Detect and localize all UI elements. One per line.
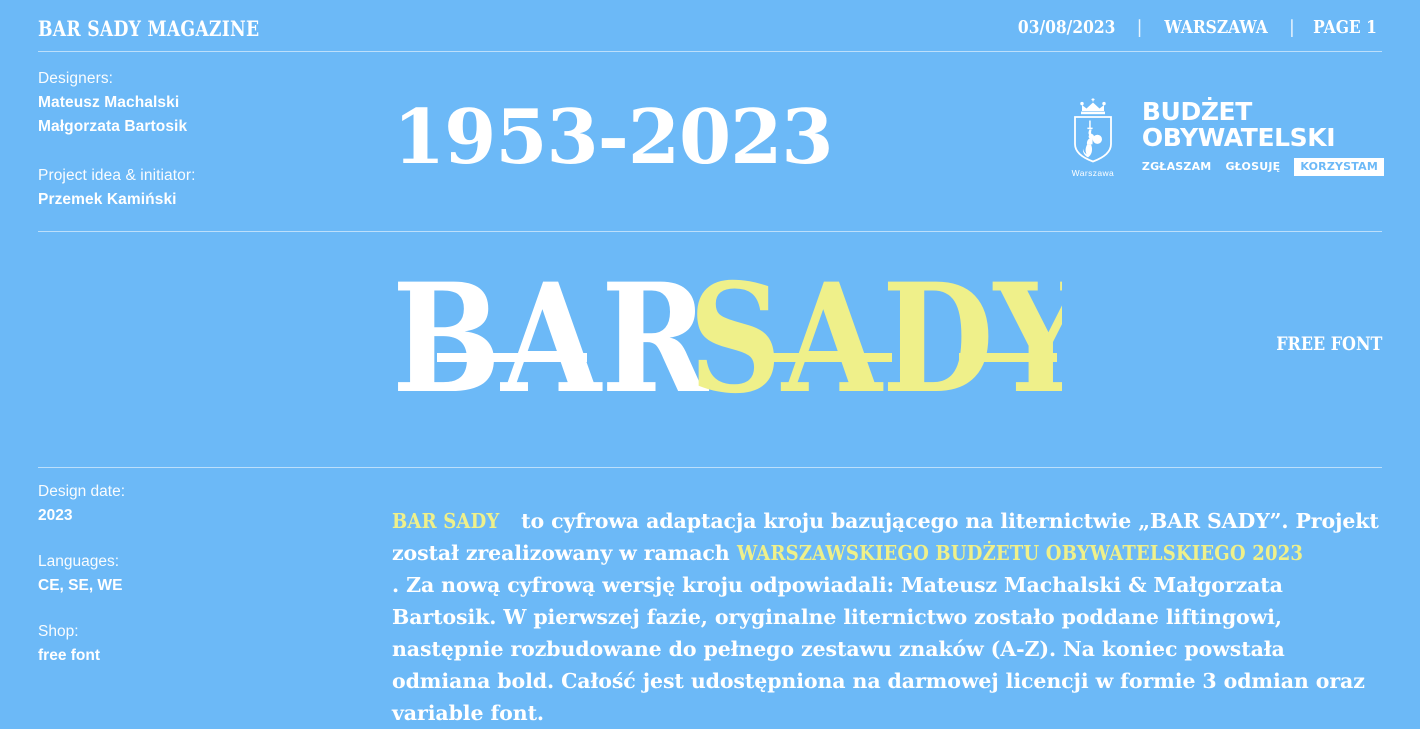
spec-design-date: Design date: 2023 (38, 480, 338, 528)
budget-line-1: BUDŻET (1142, 99, 1384, 125)
masthead-city: WARSZAWA (1164, 17, 1267, 38)
crossbar-a (437, 353, 587, 362)
masthead-separator-1: | (1124, 17, 1156, 38)
specs-block: Design date: 2023 Languages: CE, SE, WE … (38, 480, 338, 668)
divider-top (38, 51, 1382, 52)
description-text-2: . Za nową cyfrową wersję kroju odpowiada… (392, 573, 1365, 725)
masthead-title: BAR SADY MAGAZINE (38, 16, 259, 41)
mermaid-figure (1083, 121, 1102, 158)
shop-label: Shop: (38, 620, 338, 644)
warsaw-coat-of-arms-icon (1064, 96, 1122, 166)
credits-block: Designers: Mateusz Machalski Małgorzata … (38, 67, 338, 212)
budget-wordmark: BUDŻET OBYWATELSKI ZGŁASZAM GŁOSUJĘ KORZ… (1142, 99, 1384, 176)
wordmark-bar: BAR (392, 266, 710, 416)
masthead-date: 03/08/2023 (1018, 17, 1115, 38)
description-highlight-1: BAR SADY (392, 505, 499, 537)
budget-tagline: ZGŁASZAM GŁOSUJĘ KORZYSTAM (1142, 158, 1384, 176)
spec-languages: Languages: CE, SE, WE (38, 550, 338, 598)
crest-caption: Warszawa (1072, 168, 1115, 178)
wordmark-sady: SADY (689, 266, 1062, 416)
description-paragraph: BAR SADY to cyfrowa adaptacja kroju bazu… (392, 505, 1384, 729)
divider-upper (38, 231, 1382, 232)
poster-page: BAR SADY MAGAZINE 03/08/2023 | WARSZAWA … (0, 0, 1420, 710)
spec-shop: Shop: free font (38, 620, 338, 668)
warsaw-crest: Warszawa (1062, 96, 1124, 178)
credits-designers: Designers: Mateusz Machalski Małgorzata … (38, 67, 338, 139)
languages-label: Languages: (38, 550, 338, 574)
designers-label: Designers: (38, 67, 338, 91)
budget-obywatelski-logo: Warszawa BUDŻET OBYWATELSKI ZGŁASZAM GŁO… (1062, 96, 1384, 178)
masthead-separator-2: | (1276, 17, 1308, 38)
description-highlight-2: WARSZAWSKIEGO BUDŻETU OBYWATELSKIEGO 202… (737, 537, 1303, 569)
initiator-name: Przemek Kamiński (38, 188, 338, 212)
tagline-korzystam: KORZYSTAM (1294, 158, 1384, 176)
budget-line-2: OBYWATELSKI (1142, 125, 1384, 151)
design-date-value: 2023 (38, 504, 338, 528)
tagline-zglaszam: ZGŁASZAM (1142, 160, 1212, 173)
shop-value: free font (38, 644, 338, 668)
crossbar-a-2 (762, 353, 892, 362)
crossbar-y (959, 353, 1057, 362)
free-font-label: FREE FONT (1276, 333, 1382, 355)
initiator-label: Project idea & initiator: (38, 164, 338, 188)
credits-initiator: Project idea & initiator: Przemek Kamińs… (38, 164, 338, 212)
years-headline: 1953-2023 (393, 98, 833, 176)
divider-lower (38, 467, 1382, 468)
masthead-page-number: PAGE 1 (1313, 17, 1377, 38)
designer-name-1: Mateusz Machalski (38, 91, 338, 115)
masthead-meta: 03/08/2023 | WARSZAWA | PAGE 1 (1010, 17, 1382, 38)
designer-name-2: Małgorzata Bartosik (38, 115, 338, 139)
bar-sady-lettering: BAR SADY (392, 266, 1062, 416)
languages-value: CE, SE, WE (38, 574, 338, 598)
design-date-label: Design date: (38, 480, 338, 504)
bar-sady-wordmark: BAR SADY (392, 266, 1062, 426)
tagline-glosuje: GŁOSUJĘ (1225, 160, 1280, 173)
